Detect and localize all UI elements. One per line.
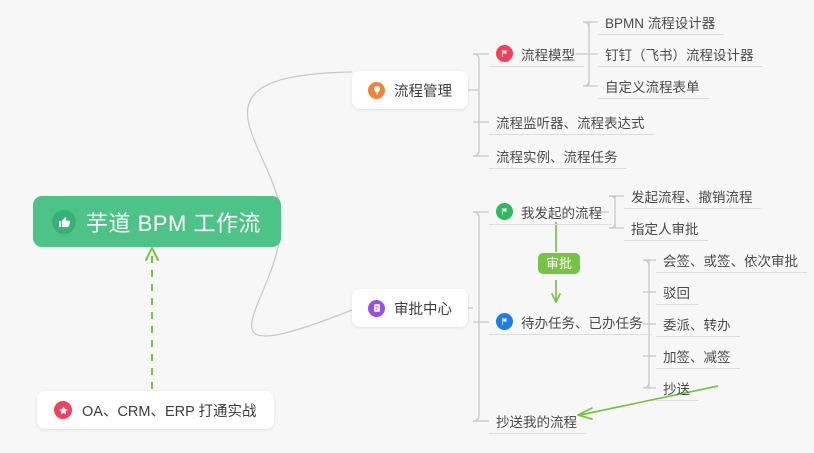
node-label: 抄送 <box>663 378 690 398</box>
node-label: 发起流程、撤销流程 <box>631 186 753 206</box>
node-my-started-processes[interactable]: 我发起的流程 <box>489 199 611 225</box>
node-cc-to-me-processes[interactable]: 抄送我的流程 <box>489 408 586 434</box>
thumbs-up-icon <box>52 210 76 234</box>
branch-node-process-management[interactable]: 流程管理 <box>352 71 468 109</box>
node-label: 抄送我的流程 <box>496 411 577 431</box>
node-label: 我发起的流程 <box>521 202 602 222</box>
approval-annotation-tag: 审批 <box>538 253 580 274</box>
node-label: 驳回 <box>663 282 690 302</box>
node-label: 委派、转办 <box>663 314 731 334</box>
node-label: 流程实例、流程任务 <box>496 146 618 166</box>
document-icon <box>368 300 385 317</box>
node-label: 指定人审批 <box>631 218 699 238</box>
node-process-instance-task[interactable]: 流程实例、流程任务 <box>489 143 627 169</box>
root-label: 芋道 BPM 工作流 <box>86 206 261 238</box>
star-icon <box>54 401 72 419</box>
node-custom-process-form[interactable]: 自定义流程表单 <box>598 73 709 99</box>
node-label: 待办任务、已办任务 <box>521 312 643 332</box>
branch-node-approval-center[interactable]: 审批中心 <box>352 289 468 327</box>
callout-label: OA、CRM、ERP 打通实战 <box>82 400 257 421</box>
node-assigned-approver[interactable]: 指定人审批 <box>624 215 708 241</box>
node-cc[interactable]: 抄送 <box>656 375 699 401</box>
node-label: 加签、减签 <box>663 346 731 366</box>
callout-node-integration[interactable]: OA、CRM、ERP 打通实战 <box>37 391 274 429</box>
flag-icon <box>496 45 513 62</box>
flag-icon <box>496 313 513 330</box>
node-dingtalk-feishu-designer[interactable]: 钉钉（飞书）流程设计器 <box>598 41 763 67</box>
root-node[interactable]: 芋道 BPM 工作流 <box>33 196 281 247</box>
node-label: BPMN 流程设计器 <box>605 12 715 32</box>
branch-label: 流程管理 <box>394 80 452 101</box>
node-add-remove-sign[interactable]: 加签、减签 <box>656 343 740 369</box>
node-delegate-transfer[interactable]: 委派、转办 <box>656 311 740 337</box>
lightbulb-icon <box>368 82 385 99</box>
node-process-model[interactable]: 流程模型 <box>489 41 584 67</box>
node-reject[interactable]: 驳回 <box>656 279 699 305</box>
node-start-cancel-process[interactable]: 发起流程、撤销流程 <box>624 183 762 209</box>
node-label: 自定义流程表单 <box>605 76 700 96</box>
node-process-listener-expression[interactable]: 流程监听器、流程表达式 <box>489 109 654 135</box>
node-label: 流程模型 <box>521 44 575 64</box>
node-label: 流程监听器、流程表达式 <box>496 112 645 132</box>
node-countersign-orsign-sequential[interactable]: 会签、或签、依次审批 <box>656 247 807 273</box>
branch-label: 审批中心 <box>394 298 452 319</box>
node-label: 钉钉（飞书）流程设计器 <box>605 44 754 64</box>
node-label: 会签、或签、依次审批 <box>663 250 798 270</box>
node-todo-done-tasks[interactable]: 待办任务、已办任务 <box>489 309 652 335</box>
mindmap-canvas: 芋道 BPM 工作流 流程管理 流程模型 BPMN 流程设计器 钉钉（飞书）流程… <box>0 0 814 453</box>
node-bpmn-designer[interactable]: BPMN 流程设计器 <box>598 9 724 35</box>
flag-icon <box>496 203 513 220</box>
